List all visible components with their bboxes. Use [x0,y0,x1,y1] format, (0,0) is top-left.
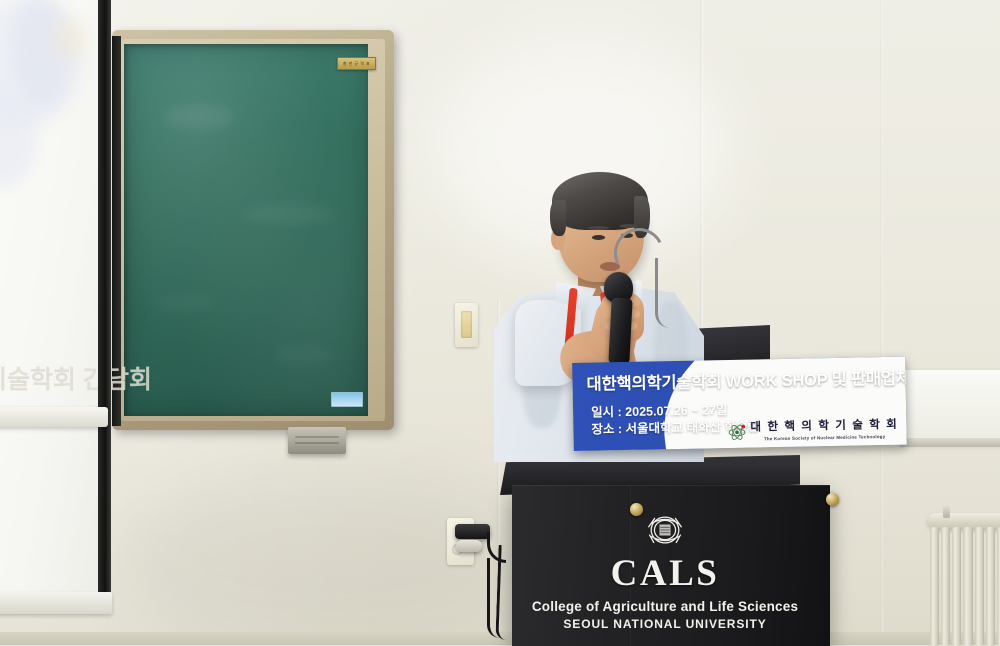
chalk-tray [288,427,346,454]
gooseneck-microphone-stem [655,258,670,328]
atom-logo-icon [727,423,746,442]
chalkboard-nameplate-text: 칠 판 규 격 표 [343,61,370,67]
light-switch-plate[interactable] [455,303,478,347]
speaker-hair-side [550,200,566,236]
microphone-body [608,297,632,364]
projection-screen-roller [0,407,108,427]
photo-scene: 칠 판 규 격 표 기술학회 간담회 [0,0,1000,646]
chalkboard: 칠 판 규 격 표 [112,30,394,430]
projection-screen-bottom-bar [0,592,112,614]
snu-cals-crest-icon [642,507,688,553]
wall-panel-lip [900,438,1000,447]
projected-text: 기술학회 간담회 [0,360,104,396]
podium-acronym: CALS [500,555,830,592]
chalkboard-sticker [331,392,363,407]
podium-college-name: College of Agriculture and Life Sciences [500,599,830,614]
wall-seam [880,0,883,646]
podium-branding: CALS College of Agriculture and Life Sci… [500,507,830,631]
speaker-eye [592,235,605,240]
event-banner: 대한핵의학기술학회 WORK SHOP 및 판매업체 간담회 일시 : 2025… [572,357,907,451]
chalkboard-nameplate: 칠 판 규 격 표 [337,57,376,70]
society-logo-korean: 대 한 핵 의 학 기 술 학 회 [750,420,898,434]
podium-fastener [826,493,839,506]
society-logo: 대 한 핵 의 학 기 술 학 회 The Korean Society of … [727,420,898,442]
projection-screen: 기술학회 간담회 [0,0,112,632]
radiator [930,527,1000,646]
speaker-eyebrow [588,226,609,230]
chalkboard-surface [124,44,368,416]
power-plug [455,524,490,539]
radiator-valve [943,505,950,518]
projection-screen-edge [98,0,111,610]
power-adapter [456,540,482,552]
light-switch-rocker[interactable] [461,311,472,338]
projection-screen-surface: 기술학회 간담회 [0,0,98,610]
wall-panel [900,370,1000,442]
podium-university-name: SEOUL NATIONAL UNIVERSITY [500,617,830,631]
